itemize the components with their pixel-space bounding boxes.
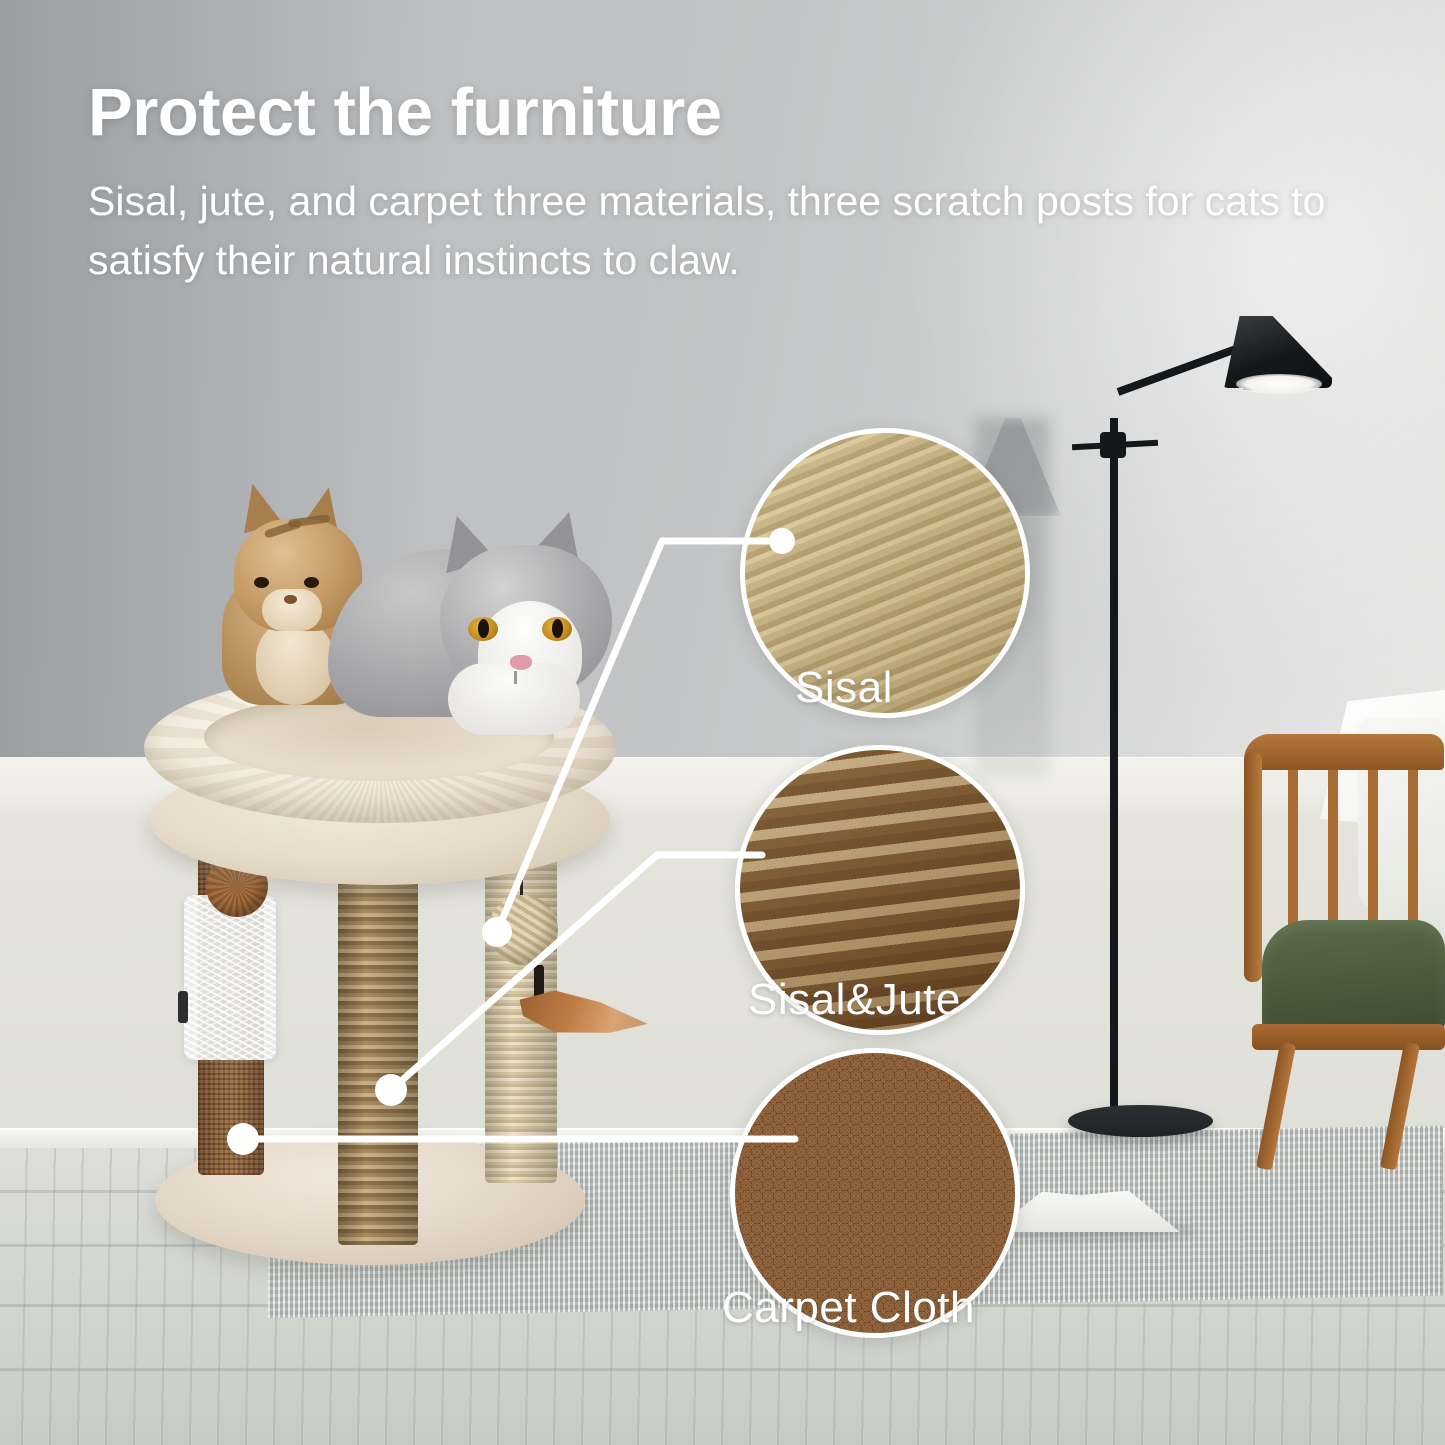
lamp-pole (1110, 418, 1118, 1118)
cat-scratching-tree (120, 455, 640, 1285)
chair-cushion (1262, 920, 1445, 1036)
cat-pupil-right (552, 619, 563, 638)
self-groomer-brush (184, 895, 276, 1060)
kitten-eye-right (304, 577, 319, 588)
cat-mouth (514, 671, 517, 684)
product-infographic: Sisal Sisal&Jute Carpet Cloth Protect th… (0, 0, 1445, 1445)
swatch-label-jute: Sisal&Jute (748, 975, 961, 1025)
swatch-label-sisal: Sisal (795, 663, 893, 713)
headline: Protect the furniture (88, 74, 722, 151)
chair-backrail (1244, 734, 1444, 770)
subheadline: Sisal, jute, and carpet three materials,… (88, 172, 1388, 291)
groomer-clip (178, 991, 188, 1023)
swatch-label-carpet: Carpet Cloth (722, 1283, 975, 1333)
jute-post (338, 853, 418, 1245)
british-shorthair-cat (328, 495, 628, 725)
kitten-chest (256, 619, 334, 705)
book-page-right (1077, 1176, 1189, 1232)
kitten-nose (284, 595, 297, 604)
lamp-base (1068, 1105, 1213, 1137)
chair-post (1244, 752, 1262, 982)
lamp-joint (1100, 432, 1126, 458)
cat-nose (510, 655, 532, 670)
kitten-eye-left (254, 577, 269, 588)
sisal-ball-toy (488, 895, 558, 965)
lamp-bulb-glow (1236, 374, 1322, 394)
cat-pupil-left (478, 619, 489, 638)
